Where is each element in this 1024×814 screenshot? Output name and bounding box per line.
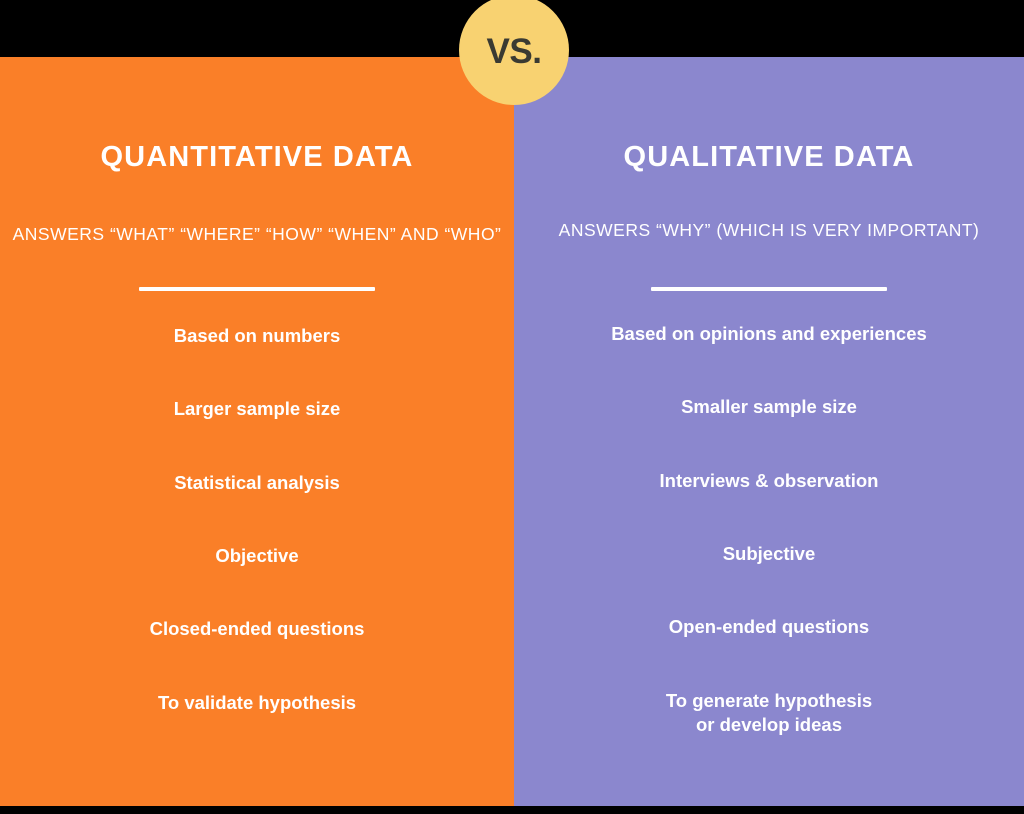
versus-badge: VS. [459,0,569,105]
comparison-infographic: QUANTITATIVE DATA ANSWERS “WHAT” “WHERE”… [0,0,1024,814]
quantitative-column-title: QUANTITATIVE DATA [101,141,414,174]
list-item: To generate hypothesis or develop ideas [666,689,872,738]
quantitative-column: QUANTITATIVE DATA ANSWERS “WHAT” “WHERE”… [0,57,514,806]
list-item: Objective [215,544,298,568]
qualitative-divider-rule [651,287,887,291]
qualitative-column-title: QUALITATIVE DATA [624,141,915,174]
qualitative-column-subtitle: ANSWERS “WHY” (WHICH IS VERY IMPORTANT) [559,218,980,243]
list-item: Smaller sample size [681,395,857,419]
versus-badge-label: VS. [487,34,542,69]
qualitative-column: QUALITATIVE DATA ANSWERS “WHY” (WHICH IS… [514,57,1024,806]
qualitative-item-list: Based on opinions and experiences Smalle… [514,322,1024,738]
list-item: Interviews & observation [660,469,879,493]
list-item: Closed-ended questions [150,617,365,641]
list-item: Statistical analysis [174,471,340,495]
list-item: Subjective [723,542,816,566]
bottom-black-strip [0,806,1024,814]
quantitative-item-list: Based on numbers Larger sample size Stat… [0,324,514,715]
quantitative-divider-rule [139,287,375,291]
list-item: Larger sample size [174,397,341,421]
list-item: Open-ended questions [669,615,869,639]
list-item: To validate hypothesis [158,691,356,715]
quantitative-column-subtitle: ANSWERS “WHAT” “WHERE” “HOW” “WHEN” AND … [13,222,502,247]
list-item: Based on numbers [174,324,341,348]
list-item: Based on opinions and experiences [611,322,927,346]
